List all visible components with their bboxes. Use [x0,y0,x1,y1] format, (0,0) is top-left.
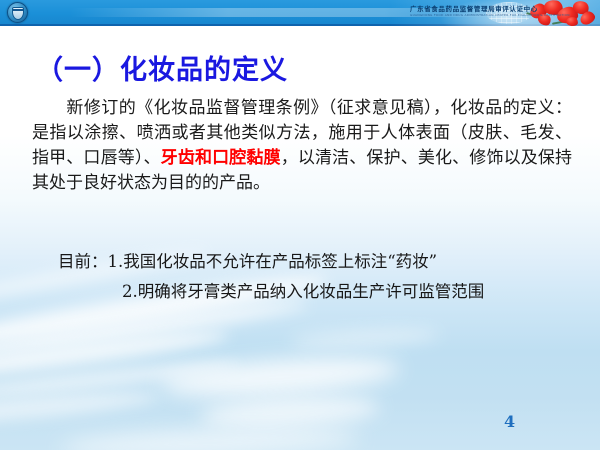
banner-artwork: 广东省食品药品监督管理局审评认证中心 GUANGDONG FOOD AND DR… [390,0,600,26]
definition-paragraph: 新修订的《化妆品监督管理条例》（征求意见稿），化妆品的定义：是指以涂擦、喷洒或者… [32,96,572,196]
cloud-streak [290,326,441,350]
definition-highlight: 牙齿和口腔黏膜 [161,148,281,168]
cloud-puff [159,352,401,403]
organization-name-en: GUANGDONG FOOD AND DRUG ADMINISTRATION C… [410,13,570,17]
notes-block: 目前：1.我国化妆品不允许在产品标签上标注“药妆” 2.明确将牙膏类产品纳入化妆… [32,247,572,307]
note-item: 2.明确将牙膏类产品纳入化妆品生产许可监管范围 [32,277,572,307]
presentation-slide: 广东省食品药品监督管理局审评认证中心 GUANGDONG FOOD AND DR… [0,0,600,450]
flower-petal [565,16,578,26]
emblem-seal-icon [7,2,28,23]
organization-name-cn: 广东省食品药品监督管理局审评认证中心 [410,3,538,13]
note-item: 目前：1.我国化妆品不允许在产品标签上标注“药妆” [32,247,572,277]
header-banner: 广东省食品药品监督管理局审评认证中心 GUANGDONG FOOD AND DR… [0,0,600,26]
cloud-puff [60,425,361,450]
emblem-bar [13,9,23,11]
cloud-puff [199,393,380,430]
page-number: 4 [504,412,515,431]
slide-title: （一）化妆品的定义 [36,48,288,87]
